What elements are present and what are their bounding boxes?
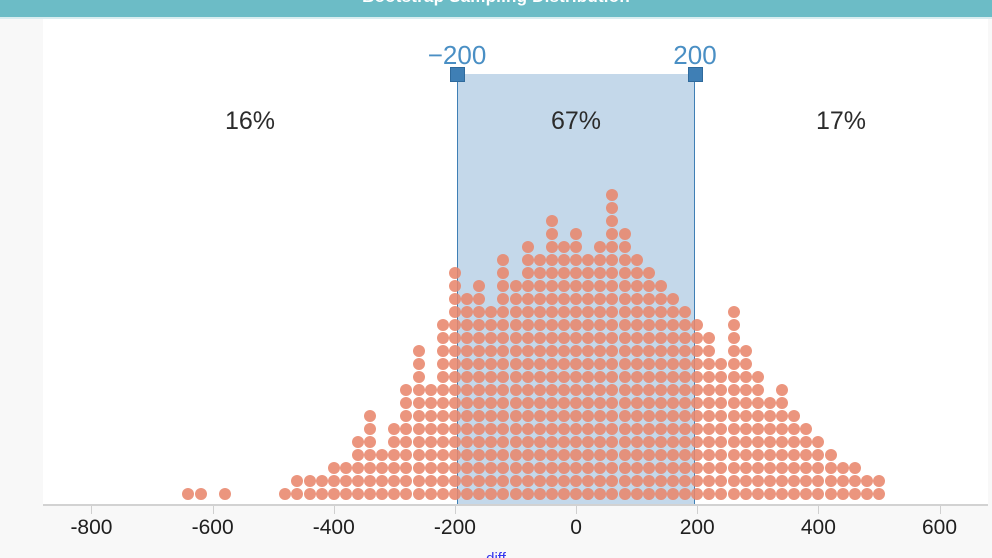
selection-upper-label: 200 — [673, 40, 716, 71]
dot-plot-point — [703, 397, 715, 409]
dot-plot-point — [703, 488, 715, 500]
dot-plot-point — [764, 475, 776, 487]
dot-plot-point — [752, 449, 764, 461]
dot-plot-point — [304, 488, 316, 500]
dot-plot-point — [837, 488, 849, 500]
dot-plot-point — [413, 462, 425, 474]
dot-plot-point — [316, 488, 328, 500]
dot-plot-point — [825, 475, 837, 487]
dot-plot-point — [861, 475, 873, 487]
dot-plot-point — [195, 488, 207, 500]
dot-plot-point — [776, 449, 788, 461]
dot-plot-point — [873, 475, 885, 487]
dot-plot-point — [400, 384, 412, 396]
dot-plot-point — [752, 436, 764, 448]
x-axis-title: diff — [0, 550, 992, 558]
dot-plot-point — [437, 358, 449, 370]
dot-plot-point — [376, 475, 388, 487]
dot-plot-point — [752, 423, 764, 435]
x-axis-tick-label: 400 — [801, 516, 836, 540]
dot-plot-point — [861, 488, 873, 500]
dot-plot-point — [400, 397, 412, 409]
selection-lower-label: −200 — [428, 40, 487, 71]
dot-plot-point — [437, 345, 449, 357]
dot-plot-point — [800, 462, 812, 474]
dot-plot-point — [413, 475, 425, 487]
dot-plot-point — [703, 475, 715, 487]
dot-plot-point — [764, 488, 776, 500]
dot-plot-point — [400, 449, 412, 461]
x-axis-tick-label: 0 — [570, 516, 582, 540]
dot-plot-point — [400, 475, 412, 487]
dot-plot-point — [388, 475, 400, 487]
dot-plot-point — [413, 410, 425, 422]
dot-plot-point — [703, 436, 715, 448]
dot-plot-point — [715, 397, 727, 409]
dot-plot-point — [400, 410, 412, 422]
window-title: Bootstrap Sampling Distribution — [0, 0, 992, 7]
dot-plot-point — [764, 436, 776, 448]
dot-plot-point — [413, 397, 425, 409]
percent-left: 16% — [225, 107, 275, 136]
dot-plot-point — [425, 449, 437, 461]
dot-plot-point — [740, 371, 752, 383]
dot-plot-point — [413, 371, 425, 383]
x-axis-tick — [91, 506, 92, 514]
dot-plot-point — [352, 462, 364, 474]
dot-plot-point — [812, 449, 824, 461]
x-axis-tick — [334, 506, 335, 514]
dot-plot-point — [873, 488, 885, 500]
dot-plot-point — [728, 488, 740, 500]
x-axis-tick — [213, 506, 214, 514]
dot-plot-point — [788, 462, 800, 474]
dot-plot-point — [437, 397, 449, 409]
dot-plot-point — [728, 449, 740, 461]
dot-plot-point — [437, 319, 449, 331]
dot-plot-point — [764, 410, 776, 422]
dot-plot-point — [752, 384, 764, 396]
percent-right: 17% — [816, 107, 866, 136]
dot-plot-point — [388, 436, 400, 448]
dot-plot-point — [728, 319, 740, 331]
dot-plot-point — [752, 462, 764, 474]
dot-plot-point — [788, 449, 800, 461]
dot-plot-point — [388, 462, 400, 474]
dot-plot-point — [752, 410, 764, 422]
dot-plot-point — [388, 488, 400, 500]
x-axis-tick-label: 200 — [680, 516, 715, 540]
dot-plot-point — [728, 332, 740, 344]
x-axis-tick — [576, 506, 577, 514]
dot-plot-point — [413, 449, 425, 461]
dot-plot-point — [715, 423, 727, 435]
dot-plot-point — [728, 397, 740, 409]
dot-plot-point — [776, 436, 788, 448]
dot-plot-point — [740, 358, 752, 370]
dot-plot-point — [752, 397, 764, 409]
dot-plot-point — [364, 436, 376, 448]
dot-plot-point — [740, 462, 752, 474]
dot-plot-point — [715, 410, 727, 422]
plot-area: −200 200 16% 67% 17% — [43, 19, 988, 504]
dot-plot-point — [788, 475, 800, 487]
x-axis-tick-label: -800 — [70, 516, 112, 540]
dot-plot-point — [703, 410, 715, 422]
dot-plot-point — [740, 397, 752, 409]
dot-plot-point — [279, 488, 291, 500]
dot-plot-point — [703, 332, 715, 344]
dot-plot-point — [740, 436, 752, 448]
dot-plot-point — [388, 449, 400, 461]
dot-plot-point — [800, 475, 812, 487]
selection-band[interactable] — [457, 74, 695, 504]
dot-plot-point — [437, 410, 449, 422]
dot-plot-point — [837, 475, 849, 487]
window-header-bar: Bootstrap Sampling Distribution — [0, 0, 992, 17]
dot-plot-point — [425, 397, 437, 409]
dot-plot-point — [728, 371, 740, 383]
app-root: Bootstrap Sampling Distribution −200 200… — [0, 0, 992, 558]
dot-plot-point — [728, 436, 740, 448]
x-axis: -800-600-400-2000200400600 diff — [0, 504, 992, 558]
dot-plot-point — [740, 410, 752, 422]
dot-plot-point — [376, 488, 388, 500]
dot-plot-point — [825, 449, 837, 461]
dot-plot-point — [364, 462, 376, 474]
dot-plot-point — [413, 488, 425, 500]
dot-plot-point — [776, 410, 788, 422]
dot-plot-point — [849, 488, 861, 500]
dot-plot-point — [715, 462, 727, 474]
dot-plot-point — [352, 449, 364, 461]
dot-plot-point — [776, 384, 788, 396]
dot-plot-point — [825, 462, 837, 474]
dot-plot-point — [776, 397, 788, 409]
dot-plot-point — [437, 475, 449, 487]
x-axis-tick — [697, 506, 698, 514]
dot-plot-point — [340, 462, 352, 474]
dot-plot-point — [376, 462, 388, 474]
dot-plot-point — [413, 358, 425, 370]
dot-plot-point — [437, 449, 449, 461]
dot-plot-point — [715, 436, 727, 448]
dot-plot-point — [703, 358, 715, 370]
dot-plot-point — [728, 423, 740, 435]
dot-plot-point — [364, 449, 376, 461]
dot-plot-point — [364, 423, 376, 435]
dot-plot-point — [776, 488, 788, 500]
dot-plot-point — [437, 332, 449, 344]
dot-plot-point — [437, 384, 449, 396]
dot-plot-point — [764, 397, 776, 409]
dot-plot-point — [328, 462, 340, 474]
dot-plot-point — [812, 488, 824, 500]
dot-plot-point — [437, 462, 449, 474]
dot-plot-point — [291, 475, 303, 487]
dot-plot-point — [752, 475, 764, 487]
dot-plot-point — [740, 345, 752, 357]
dot-plot-point — [437, 371, 449, 383]
dot-plot-point — [715, 371, 727, 383]
dot-plot-point — [328, 475, 340, 487]
x-axis-tick — [940, 506, 941, 514]
dot-plot-point — [437, 423, 449, 435]
dot-plot-point — [728, 475, 740, 487]
dot-plot-point — [715, 358, 727, 370]
dot-plot-point — [776, 423, 788, 435]
dot-plot-point — [413, 345, 425, 357]
dot-plot-point — [812, 462, 824, 474]
left-gutter — [0, 19, 43, 558]
dot-plot-point — [728, 410, 740, 422]
dot-plot-point — [764, 449, 776, 461]
dot-plot-point — [776, 462, 788, 474]
dot-plot-point — [340, 475, 352, 487]
dot-plot-point — [703, 384, 715, 396]
dot-plot-point — [703, 449, 715, 461]
x-axis-tick-label: -600 — [192, 516, 234, 540]
dot-plot-point — [740, 423, 752, 435]
dot-plot-point — [425, 384, 437, 396]
dot-plot-point — [788, 410, 800, 422]
dot-plot-point — [788, 436, 800, 448]
dot-plot-point — [728, 358, 740, 370]
dot-plot-point — [800, 449, 812, 461]
dot-plot-point — [728, 306, 740, 318]
dot-plot-point — [388, 423, 400, 435]
dot-plot-point — [825, 488, 837, 500]
dot-plot-point — [413, 423, 425, 435]
dot-plot-point — [740, 475, 752, 487]
dot-plot-point — [752, 488, 764, 500]
dot-plot-point — [219, 488, 231, 500]
dot-plot-point — [837, 462, 849, 474]
dot-plot-point — [425, 423, 437, 435]
dot-plot-point — [364, 475, 376, 487]
x-axis-tick — [818, 506, 819, 514]
dot-plot-point — [740, 449, 752, 461]
dot-plot-point — [703, 371, 715, 383]
dot-plot-point — [800, 488, 812, 500]
dot-plot-point — [728, 345, 740, 357]
dot-plot-point — [437, 436, 449, 448]
dot-plot-point — [425, 462, 437, 474]
dot-plot-point — [291, 488, 303, 500]
dot-plot-point — [849, 462, 861, 474]
dot-plot-point — [849, 475, 861, 487]
dot-plot-point — [715, 449, 727, 461]
x-axis-line — [43, 504, 988, 506]
dot-plot-point — [740, 384, 752, 396]
dot-plot-point — [425, 475, 437, 487]
dot-plot-point — [437, 488, 449, 500]
dot-plot-point — [800, 423, 812, 435]
dot-plot-point — [364, 410, 376, 422]
dot-plot-point — [715, 488, 727, 500]
x-axis-tick-label: 600 — [922, 516, 957, 540]
dot-plot-point — [715, 384, 727, 396]
dot-plot-point — [715, 475, 727, 487]
dot-plot-point — [364, 488, 376, 500]
dot-plot-point — [340, 488, 352, 500]
dot-plot-point — [400, 488, 412, 500]
dot-plot-point — [352, 475, 364, 487]
dot-plot-point — [425, 410, 437, 422]
dot-plot-point — [182, 488, 194, 500]
dot-plot-point — [400, 423, 412, 435]
dot-plot-point — [425, 488, 437, 500]
dot-plot-point — [400, 436, 412, 448]
dot-plot-point — [788, 488, 800, 500]
dot-plot-point — [425, 436, 437, 448]
dot-plot-point — [413, 436, 425, 448]
x-axis-tick-label: -200 — [434, 516, 476, 540]
dot-plot-point — [400, 462, 412, 474]
dot-plot-point — [413, 384, 425, 396]
dot-plot-point — [740, 488, 752, 500]
dot-plot-point — [812, 436, 824, 448]
dot-plot-point — [352, 436, 364, 448]
x-axis-tick — [455, 506, 456, 514]
dot-plot-point — [728, 462, 740, 474]
dot-plot-point — [800, 436, 812, 448]
dot-plot-point — [776, 475, 788, 487]
dot-plot-point — [788, 423, 800, 435]
dot-plot-point — [304, 475, 316, 487]
dot-plot-point — [728, 384, 740, 396]
dot-plot-point — [812, 475, 824, 487]
x-axis-tick-label: -400 — [313, 516, 355, 540]
dot-plot-point — [328, 488, 340, 500]
dot-plot-point — [764, 423, 776, 435]
dot-plot-point — [316, 475, 328, 487]
percent-middle: 67% — [551, 107, 601, 136]
dot-plot-point — [752, 371, 764, 383]
dot-plot-point — [703, 423, 715, 435]
dot-plot-point — [764, 462, 776, 474]
dot-plot-point — [703, 345, 715, 357]
dot-plot-point — [352, 488, 364, 500]
dot-plot-point — [376, 449, 388, 461]
dot-plot-point — [703, 462, 715, 474]
